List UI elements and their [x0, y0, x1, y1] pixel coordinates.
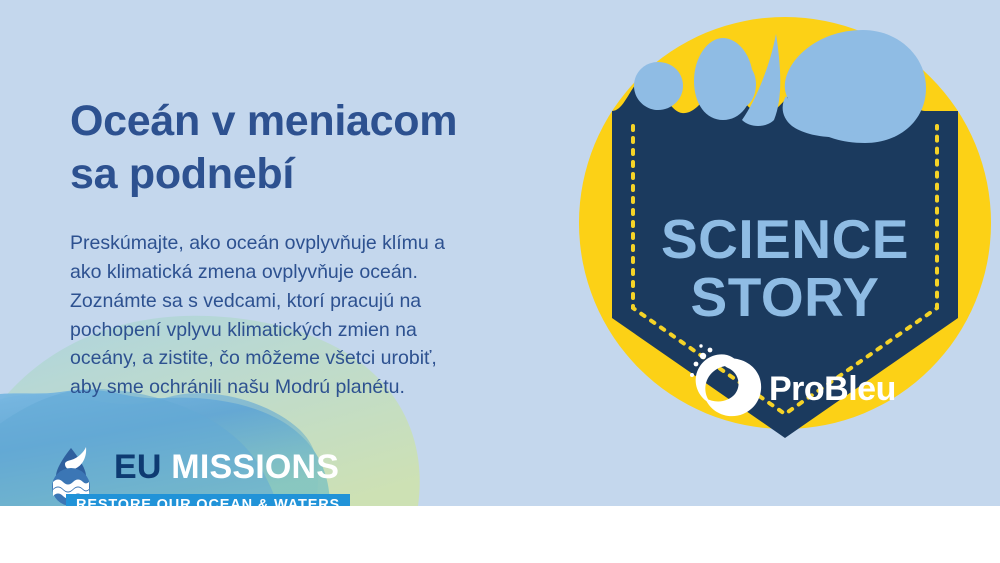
description-text: Preskúmajte, ako oceán ovplyvňuje klímu …: [70, 229, 520, 402]
badge-title-line-2: STORY: [691, 266, 880, 328]
body-line-5: oceány, a zistite, čo môžeme všetci urob…: [70, 344, 520, 373]
body-line-3: Zoznámte sa s vedcami, ktorí pracujú na: [70, 287, 520, 316]
footer-bar: UK RI Innovate UK: [0, 506, 1000, 563]
science-story-badge: SCIENCE STORY ProBleu: [570, 8, 1000, 478]
headline-line-2: sa podnebí: [70, 148, 570, 201]
eu-missions-word-missions: MISSIONS: [171, 448, 339, 486]
body-line-4: pochopení vplyvu klimatických zmien na: [70, 316, 520, 345]
body-line-6: aby sme ochránili našu Modrú planétu.: [70, 373, 520, 402]
headline-line-1: Oceán v meniacom: [70, 95, 570, 148]
slide-canvas: Oceán v meniacom sa podnebí Preskúmajte,…: [0, 0, 1000, 563]
page-title: Oceán v meniacom sa podnebí: [70, 95, 570, 201]
eu-missions-word-eu: EU: [114, 448, 162, 486]
eu-missions-wordmark: EU MISSIONS: [114, 448, 339, 487]
probleu-wordmark: ProBleu: [769, 370, 896, 408]
body-line-2: ako klimatická zmena ovplyvňuje oceán.: [70, 258, 520, 287]
eu-missions-logo: EU MISSIONS RESTORE OUR OCEAN & WATERS: [36, 448, 336, 510]
body-line-1: Preskúmajte, ako oceán ovplyvňuje klímu …: [70, 229, 520, 258]
badge-title-line-1: SCIENCE: [661, 208, 909, 270]
